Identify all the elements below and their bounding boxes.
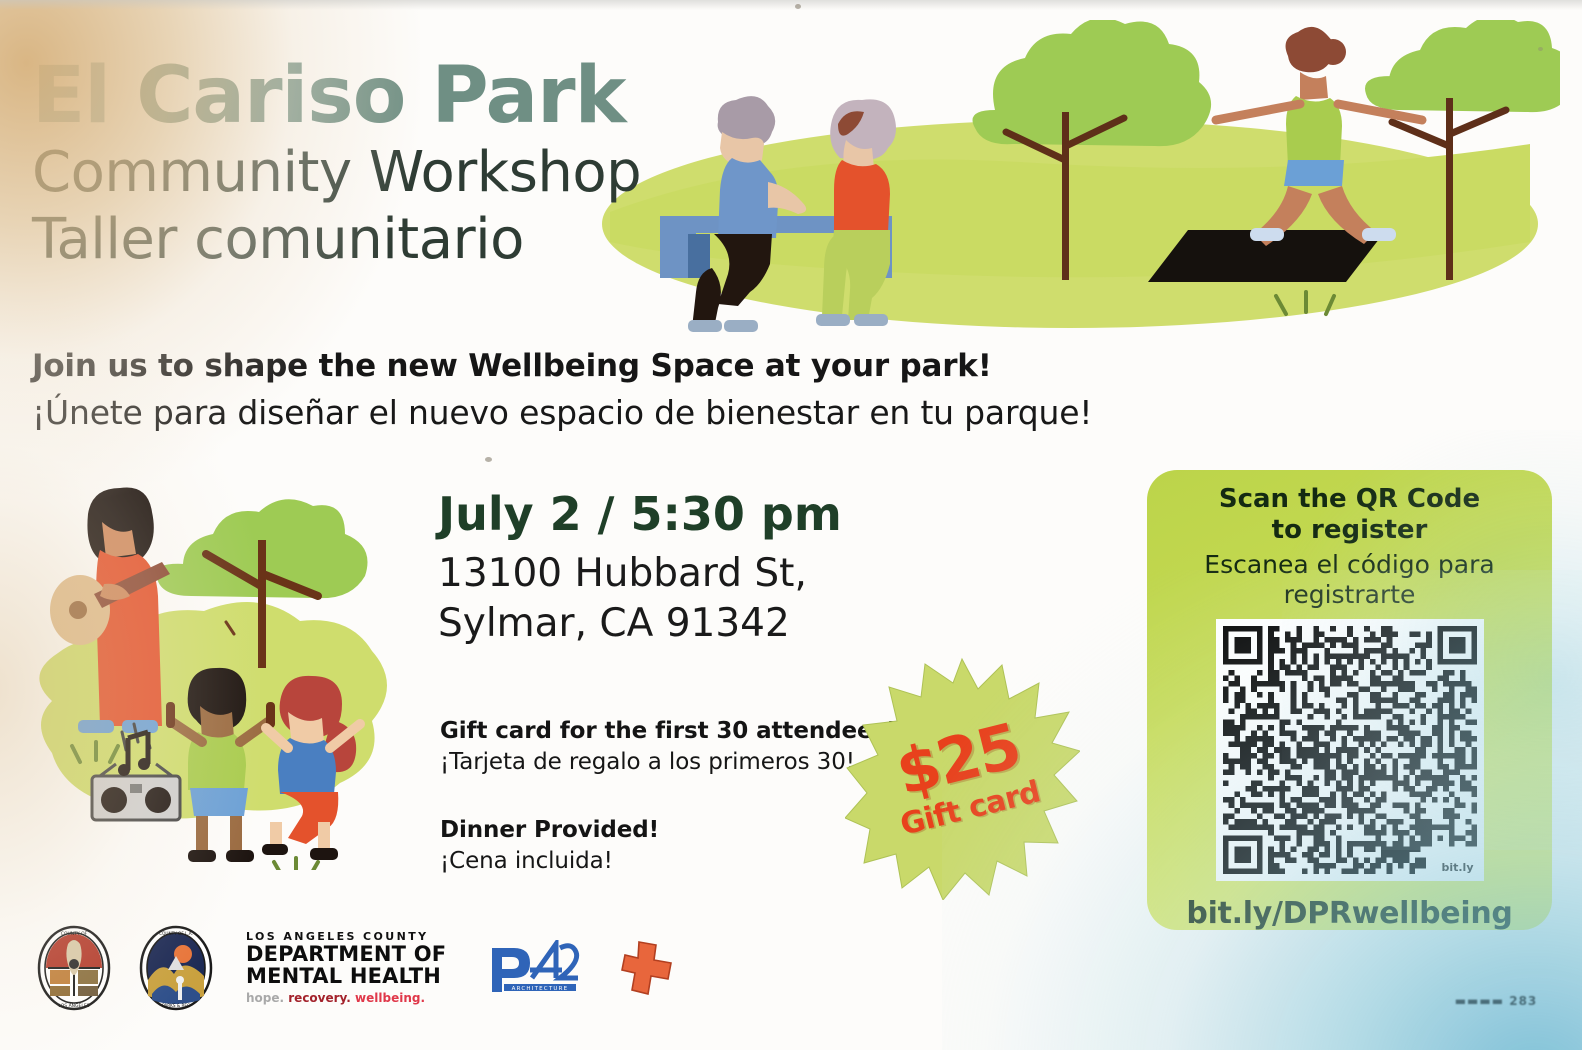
qr-heading-english-line1: Scan the QR Code (1219, 484, 1480, 515)
qr-heading-english-line2: to register (1272, 515, 1428, 546)
child-dancing-green (166, 668, 275, 862)
scan-speck (485, 457, 492, 462)
scan-speck (795, 4, 801, 9)
dmh-line1: LOS ANGELES COUNTY (246, 931, 446, 943)
senior-person-blue (688, 96, 806, 332)
dinner-note-english: Dinner Provided! (440, 817, 896, 843)
qr-code[interactable]: bit.ly (1216, 619, 1484, 881)
giftcard-note-english: Gift card for the first 30 attendees! (440, 718, 896, 744)
headline-block: El Cariso Park Community Workshop Taller… (32, 58, 641, 273)
svg-text:PARKS & REC: PARKS & REC (162, 1003, 190, 1008)
svg-text:COUNTY OF L.A.: COUNTY OF L.A. (159, 931, 193, 936)
event-address-line2: Sylmar, CA 91342 (438, 599, 842, 649)
boombox-illustration (92, 764, 180, 820)
tagline-english: Join us to shape the new Wellbeing Space… (32, 348, 1292, 384)
event-address-line1: 13100 Hubbard St, (438, 549, 842, 599)
p42-sub-label: ARCHITECTURE (512, 986, 569, 992)
dmh-tagline-hope: hope. (246, 991, 284, 1005)
svg-text:COUNTY OF: COUNTY OF (61, 931, 88, 937)
la-county-parks-recreation-seal: COUNTY OF L.A. PARKS & REC (138, 924, 214, 1012)
page-title: El Cariso Park (32, 58, 641, 134)
tree-illustration (1365, 20, 1560, 280)
guitar-woman-illustration (50, 488, 170, 763)
scan-corner-stamp-text: ▬▬▬▬ 283 (1455, 994, 1538, 1008)
logo-row: COUNTY OF LOS ANGELES COUNTY OF L.A. PAR… (36, 918, 674, 1018)
title-word-el: El (32, 51, 110, 141)
svg-text:LOS ANGELES: LOS ANGELES (58, 1003, 89, 1009)
giftcard-note-spanish: ¡Tarjeta de regalo a los primeros 30! (440, 749, 896, 775)
dmh-tagline-recovery: recovery. (288, 991, 351, 1005)
gift-card-starburst: $25 Gift card (845, 655, 1080, 900)
qr-watermark: bit.ly (1441, 861, 1473, 874)
p42-architecture-logo: ARCHITECTURE (486, 940, 582, 996)
senior-person-orange (816, 99, 896, 326)
qr-heading-spanish: Escanea el código para registrarte (1180, 550, 1520, 609)
dmh-line2: DEPARTMENT OF (246, 943, 446, 965)
registration-url[interactable]: bit.ly/DPRwellbeing (1186, 896, 1512, 931)
qr-code-canvas[interactable] (1223, 626, 1477, 874)
title-word-cariso-park: Cariso Park (136, 51, 625, 141)
dmh-tagline-wellbeing: wellbeing. (355, 991, 425, 1005)
qr-registration-panel[interactable]: Scan the QR Code to register Escanea el … (1147, 470, 1552, 930)
scan-edge-shadow (0, 0, 1582, 10)
tree-illustration (973, 20, 1212, 280)
bottom-park-illustration (30, 470, 410, 870)
event-date-time: July 2 / 5:30 pm (438, 487, 842, 541)
tagline-block: Join us to shape the new Wellbeing Space… (32, 348, 1292, 432)
subtitle-english: Community Workshop (32, 140, 641, 206)
dmh-tagline: hope. recovery. wellbeing. (246, 991, 446, 1005)
scan-corner-stamp: ▬▬▬▬ 283 (1436, 986, 1556, 1016)
scan-speck (1538, 47, 1543, 51)
event-details-block: July 2 / 5:30 pm 13100 Hubbard St, Sylma… (438, 487, 842, 649)
top-park-illustration (600, 20, 1560, 340)
flyer-page: El Cariso Park Community Workshop Taller… (0, 0, 1582, 1050)
dinner-note-spanish: ¡Cena incluida! (440, 848, 896, 874)
starburst-shape (845, 655, 1080, 900)
tagline-spanish: ¡Únete para diseñar el nuevo espacio de … (32, 393, 1292, 432)
subtitle-spanish: Taller comunitario (32, 207, 641, 273)
red-cross-plus-logo (620, 939, 674, 997)
child-dancing-blue (262, 676, 360, 870)
perks-block: Gift card for the first 30 attendees! ¡T… (440, 718, 896, 874)
dmh-wordmark: LOS ANGELES COUNTY DEPARTMENT OF MENTAL … (246, 931, 446, 1006)
los-angeles-county-seal: COUNTY OF LOS ANGELES (36, 924, 112, 1012)
dmh-line3: MENTAL HEALTH (246, 965, 446, 987)
tree-illustration (156, 499, 367, 668)
